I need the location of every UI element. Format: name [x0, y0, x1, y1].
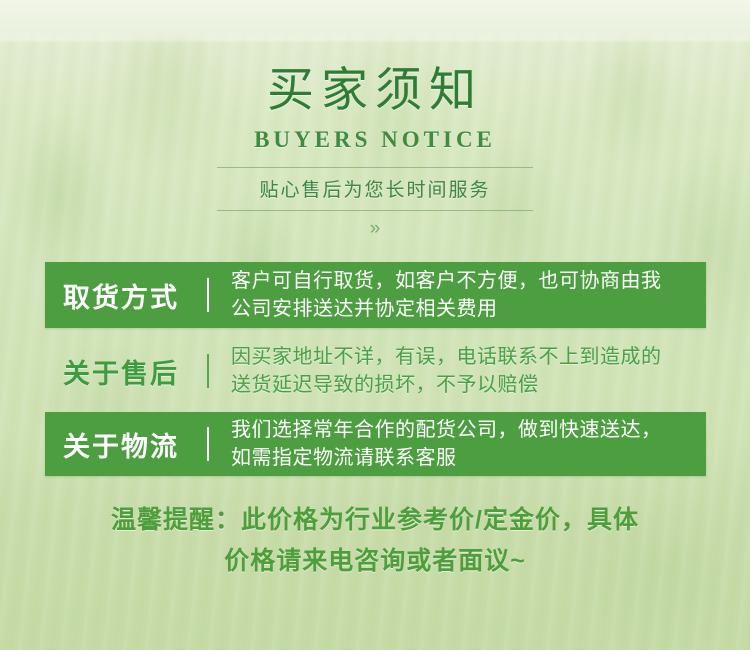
notice-row-body: 我们选择常年合作的配货公司，做到快速送达， 如需指定物流请联系客服 [231, 416, 692, 473]
buyers-notice-banner: 买家须知 BUYERS NOTICE 贴心售后为您长时间服务 » 取货方式 客户… [0, 0, 750, 650]
header: 买家须知 BUYERS NOTICE 贴心售后为您长时间服务 » [0, 0, 750, 238]
notice-row-label: 关于物流 [63, 425, 203, 464]
notice-row-body: 客户可自行取货，如客户不方便，也可协商由我 公司安排送达并协定相关费用 [231, 267, 692, 324]
price-reminder-line1: 温馨提醒：此价格为行业参考价/定金价，具体 [0, 500, 750, 541]
row-divider [207, 354, 209, 388]
notice-row-label: 取货方式 [63, 276, 203, 315]
price-reminder: 温馨提醒：此价格为行业参考价/定金价，具体 价格请来电咨询或者面议~ [0, 500, 750, 581]
page-subtitle-english: BUYERS NOTICE [0, 127, 750, 153]
notice-row-body-line1: 我们选择常年合作的配货公司，做到快速送达， [231, 419, 662, 441]
notice-row-body-line1: 客户可自行取货，如客户不方便，也可协商由我 [231, 270, 662, 292]
row-divider [207, 278, 209, 312]
notice-rows: 取货方式 客户可自行取货，如客户不方便，也可协商由我 公司安排送达并协定相关费用… [45, 262, 706, 476]
notice-row-body-line2: 送货延迟导致的损坏，不予以赔偿 [231, 374, 539, 396]
notice-row-body-line2: 公司安排送达并协定相关费用 [231, 298, 498, 320]
notice-row-pickup: 取货方式 客户可自行取货，如客户不方便，也可协商由我 公司安排送达并协定相关费用 [45, 262, 706, 328]
row-divider [207, 427, 209, 461]
notice-row-aftersales: 关于售后 因买家地址不详，有误，电话联系不上到造成的 送货延迟导致的损坏，不予以… [45, 340, 706, 402]
subtitle-divider-frame: 贴心售后为您长时间服务 [217, 167, 533, 211]
notice-row-body-line1: 因买家地址不详，有误，电话联系不上到造成的 [231, 346, 662, 368]
notice-row-logistics: 关于物流 我们选择常年合作的配货公司，做到快速送达， 如需指定物流请联系客服 [45, 412, 706, 476]
notice-row-body: 因买家地址不详，有误，电话联系不上到造成的 送货延迟导致的损坏，不予以赔偿 [231, 343, 692, 400]
price-reminder-line2: 价格请来电咨询或者面议~ [0, 541, 750, 582]
notice-row-body-line2: 如需指定物流请联系客服 [231, 447, 457, 469]
notice-row-label: 关于售后 [63, 352, 203, 391]
page-title: 买家须知 [0, 64, 750, 118]
service-tagline: 贴心售后为您长时间服务 [217, 175, 533, 202]
chevron-down-icon: » [0, 219, 750, 238]
